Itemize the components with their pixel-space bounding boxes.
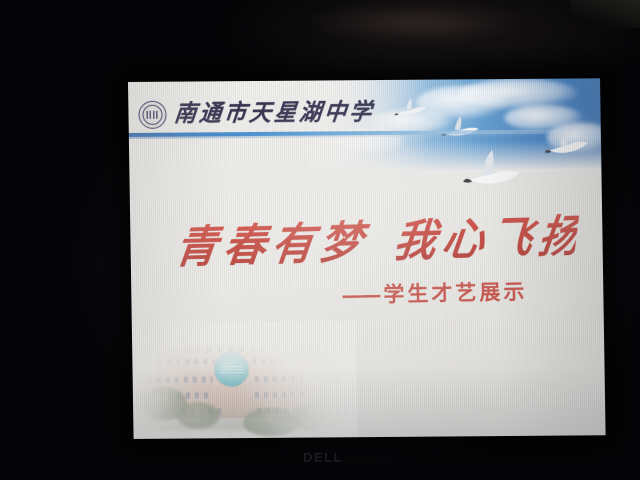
slide-header: 南通市天星湖中学 [128, 78, 601, 136]
campus-building-photo [132, 321, 358, 439]
slide-title: 青春有梦我心飞扬 [172, 201, 581, 277]
presentation-slide-surface[interactable]: 南通市天星湖中学 [128, 78, 606, 439]
slide-subtitle: ——学生才艺展示 [341, 276, 528, 310]
slide-title-part-2: 我心飞扬 [391, 210, 590, 267]
building-photo-fade [132, 321, 358, 439]
bezel-corner-highlight [570, 0, 640, 28]
school-name-text: 南通市天星湖中学 [173, 93, 377, 129]
subtitle-text: 学生才艺展示 [383, 279, 528, 307]
photographed-monitor-scene: 南通市天星湖中学 [0, 0, 640, 480]
title-spacer [366, 256, 392, 257]
slide-title-part-1: 青春有梦 [172, 216, 371, 273]
subtitle-dash: —— [341, 282, 380, 308]
slide-canvas: 南通市天星湖中学 [128, 78, 606, 439]
monitor-brand-logo: DELL [289, 446, 357, 468]
bezel-top-reflection [300, 2, 530, 42]
dove-icon [461, 147, 522, 192]
school-crest-icon [138, 101, 166, 129]
